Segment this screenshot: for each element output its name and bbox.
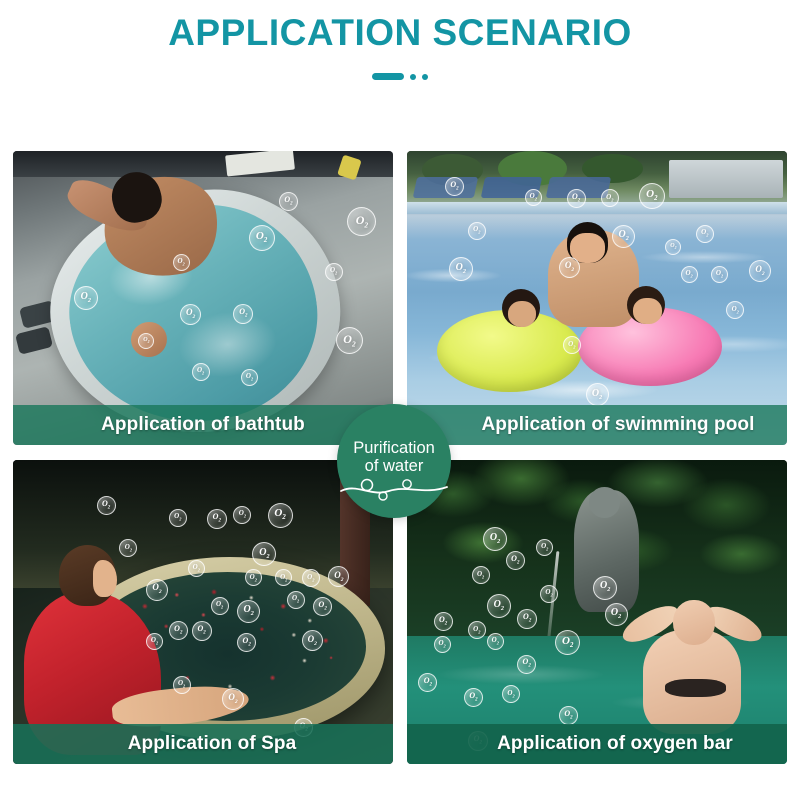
oxygen-bubble-label: O2 — [611, 608, 621, 620]
oxygen-bubble-label: O2 — [606, 194, 613, 203]
oxygen-bubble-label: O2 — [343, 333, 355, 348]
scenario-panel-bathtub[interactable]: O2O2O2O2O2O2O2O2O2O2O2O2 Application of … — [13, 151, 393, 445]
purification-badge-line1: Purification — [353, 439, 435, 457]
oxygen-bubble-label: O2 — [102, 500, 110, 512]
oxygen-bubble-icon: O2 — [146, 579, 168, 601]
scenario-panel-swimming-pool[interactable]: O2O2O2O2O2O2O2O2O2O2O2O2O2O2O2O2O2 Appli… — [407, 151, 787, 445]
oxygen-bubble-icon: O2 — [601, 189, 619, 207]
oxygen-bubble-label: O2 — [193, 564, 200, 573]
oxygen-bubble-label: O2 — [319, 601, 327, 613]
oxygen-bubble-icon: O2 — [449, 257, 473, 281]
oxygen-bubble-icon: O2 — [468, 621, 486, 639]
oxygen-bubble-icon: O2 — [169, 509, 187, 527]
purification-badge: Purification of water — [337, 404, 451, 518]
oxygen-bubble-label: O2 — [239, 308, 247, 320]
oxygen-bubble-label: O2 — [600, 581, 610, 593]
oxygen-bubble-label: O2 — [243, 637, 251, 649]
oxygen-bubble-label: O2 — [494, 600, 504, 612]
oxygen-bubble-label: O2 — [565, 261, 574, 273]
oxygen-bubble-icon: O2 — [559, 706, 578, 725]
panel-caption-swimming-pool: Application of swimming pool — [407, 405, 787, 445]
panel-caption-oxygen-bar: Application of oxygen bar — [407, 724, 787, 764]
oxygen-bubble-icon: O2 — [605, 603, 628, 626]
oxygen-bubble-icon: O2 — [188, 560, 205, 577]
oxygen-bubble-icon: O2 — [207, 509, 227, 529]
page-title: APPLICATION SCENARIO — [0, 14, 800, 53]
oxygen-bubble-icon: O2 — [325, 263, 343, 281]
panel-caption-spa: Application of Spa — [13, 724, 393, 764]
oxygen-bubble-label: O2 — [228, 693, 237, 705]
oxygen-bubble-label: O2 — [174, 625, 182, 637]
oxygen-bubble-icon: O2 — [222, 688, 244, 710]
oxygen-bubble-label: O2 — [469, 692, 477, 704]
oxygen-bubble-label: O2 — [450, 181, 458, 193]
oxygen-bubble-label: O2 — [250, 574, 257, 583]
water-wave-icon — [337, 471, 451, 501]
oxygen-bubble-icon: O2 — [681, 266, 698, 283]
oxygen-bubble-icon: O2 — [279, 192, 298, 211]
oxygen-bubble-label: O2 — [670, 243, 676, 251]
oxygen-bubble-icon: O2 — [506, 551, 525, 570]
oxygen-bubble-label: O2 — [143, 337, 149, 345]
oxygen-bubble-icon: O2 — [711, 266, 728, 283]
oxygen-bubble-icon: O2 — [146, 633, 163, 650]
oxygen-bubble-label: O2 — [284, 196, 292, 208]
oxygen-bubble-label: O2 — [334, 571, 343, 583]
oxygen-bubble-label: O2 — [523, 658, 531, 670]
oxygen-bubble-label: O2 — [125, 544, 132, 553]
oxygen-bubble-icon: O2 — [237, 633, 256, 652]
oxygen-bubble-label: O2 — [256, 231, 267, 245]
oxygen-bubble-label: O2 — [356, 214, 368, 229]
oxygen-bubbles-swimming-pool: O2O2O2O2O2O2O2O2O2O2O2O2O2O2O2O2O2 — [407, 151, 787, 445]
oxygen-bubble-label: O2 — [274, 508, 285, 522]
oxygen-bubble-label: O2 — [562, 636, 573, 650]
oxygen-bubble-label: O2 — [424, 677, 432, 689]
oxygen-bubble-label: O2 — [178, 680, 185, 689]
purification-badge-text: Purification of water — [345, 439, 443, 476]
oxygen-bubble-icon: O2 — [749, 260, 771, 282]
oxygen-bubble-icon: O2 — [418, 673, 437, 692]
oxygen-bubble-label: O2 — [473, 226, 480, 235]
oxygen-bubble-icon: O2 — [612, 225, 635, 248]
oxygen-bubble-label: O2 — [492, 637, 499, 646]
oxygen-bubble-label: O2 — [511, 555, 519, 567]
oxygen-bubble-label: O2 — [151, 637, 158, 646]
oxygen-bubble-label: O2 — [308, 635, 317, 647]
oxygen-bubble-icon: O2 — [502, 685, 520, 703]
oxygen-bubble-icon: O2 — [328, 566, 349, 587]
oxygen-bubbles-bathtub: O2O2O2O2O2O2O2O2O2O2O2O2 — [13, 151, 393, 445]
scenario-panel-spa[interactable]: O2O2O2O2O2O2O2O2O2O2O2O2O2O2O2O2O2O2O2O2… — [13, 460, 393, 764]
oxygen-bubble-icon: O2 — [639, 183, 665, 209]
oxygen-bubble-label: O2 — [152, 583, 161, 595]
oxygen-bubble-label: O2 — [439, 616, 447, 628]
oxygen-bubble-label: O2 — [81, 292, 91, 304]
oxygen-bubble-label: O2 — [244, 605, 254, 617]
oxygen-bubble-label: O2 — [292, 595, 299, 604]
oxygen-bubble-icon: O2 — [517, 609, 537, 629]
oxygen-bubble-icon: O2 — [302, 569, 320, 587]
oxygen-bubble-icon: O2 — [173, 254, 190, 271]
oxygen-bubble-label: O2 — [592, 389, 602, 401]
oxygen-bubble-icon: O2 — [445, 177, 464, 196]
oxygen-bubble-icon: O2 — [302, 630, 323, 651]
oxygen-bubble-label: O2 — [477, 571, 484, 580]
oxygen-bubble-icon: O2 — [555, 630, 580, 655]
oxygen-bubble-label: O2 — [177, 258, 184, 267]
oxygen-bubble-label: O2 — [186, 308, 195, 320]
oxygen-bubble-label: O2 — [732, 306, 739, 315]
oxygen-bubble-label: O2 — [174, 513, 181, 522]
oxygen-bubble-icon: O2 — [252, 542, 276, 566]
oxygen-bubble-label: O2 — [239, 510, 246, 519]
oxygen-bubble-icon: O2 — [275, 569, 292, 586]
oxygen-bubble-label: O2 — [572, 193, 580, 205]
oxygen-bubble-icon: O2 — [487, 594, 511, 618]
oxygen-bubble-icon: O2 — [233, 304, 253, 324]
oxygen-bubble-label: O2 — [541, 543, 548, 552]
page-header: APPLICATION SCENARIO — [0, 0, 800, 82]
oxygen-bubble-icon: O2 — [211, 597, 229, 615]
oxygen-bubble-label: O2 — [530, 193, 537, 202]
divider-dot-icon — [422, 74, 428, 80]
oxygen-bubble-label: O2 — [438, 640, 445, 649]
oxygen-bubble-icon: O2 — [525, 189, 542, 206]
oxygen-bubble-label: O2 — [716, 270, 723, 279]
oxygen-bubble-label: O2 — [619, 230, 629, 242]
oxygen-bubble-label: O2 — [456, 263, 466, 275]
oxygen-bubble-icon: O2 — [593, 576, 617, 600]
oxygen-bubble-label: O2 — [473, 626, 480, 635]
oxygen-bubble-label: O2 — [564, 710, 572, 722]
oxygen-bubble-icon: O2 — [464, 688, 483, 707]
oxygen-bubble-icon: O2 — [665, 239, 681, 255]
oxygen-bubble-label: O2 — [646, 189, 657, 203]
oxygen-bubble-label: O2 — [197, 625, 205, 637]
oxygen-bubble-label: O2 — [755, 265, 764, 277]
oxygen-bubble-icon: O2 — [487, 633, 504, 650]
oxygen-bubble-icon: O2 — [468, 222, 486, 240]
oxygen-bubble-icon: O2 — [192, 621, 212, 641]
scenario-panel-oxygen-bar[interactable]: O2O2O2O2O2O2O2O2O2O2O2O2O2O2O2O2O2O2O2O2… — [407, 460, 787, 764]
oxygen-bubble-icon: O2 — [434, 612, 453, 631]
oxygen-bubble-label: O2 — [216, 601, 223, 610]
oxygen-bubble-icon: O2 — [287, 591, 305, 609]
oxygen-bubble-label: O2 — [701, 229, 708, 238]
oxygen-bubble-icon: O2 — [472, 566, 490, 584]
oxygen-bubble-icon: O2 — [696, 225, 714, 243]
oxygen-bubble-icon: O2 — [563, 336, 581, 354]
oxygen-bubbles-spa: O2O2O2O2O2O2O2O2O2O2O2O2O2O2O2O2O2O2O2O2… — [13, 460, 393, 764]
oxygen-bubble-icon: O2 — [434, 636, 451, 653]
oxygen-bubble-icon: O2 — [313, 597, 332, 616]
oxygen-bubble-icon: O2 — [74, 286, 98, 310]
oxygen-bubble-icon: O2 — [249, 225, 275, 251]
oxygen-bubble-icon: O2 — [540, 585, 558, 603]
oxygen-bubble-icon: O2 — [173, 676, 191, 694]
oxygen-bubble-icon: O2 — [237, 600, 260, 623]
oxygen-bubble-icon: O2 — [97, 496, 116, 515]
oxygen-bubble-label: O2 — [246, 373, 253, 382]
oxygen-bubble-icon: O2 — [138, 333, 154, 349]
oxygen-bubble-label: O2 — [259, 548, 269, 560]
oxygen-bubble-label: O2 — [523, 613, 531, 625]
oxygen-bubble-icon: O2 — [536, 539, 553, 556]
oxygen-bubble-icon: O2 — [245, 569, 262, 586]
oxygen-bubble-icon: O2 — [180, 304, 201, 325]
oxygen-bubble-icon: O2 — [192, 363, 210, 381]
panel-caption-bathtub: Application of bathtub — [13, 405, 393, 445]
oxygen-bubble-label: O2 — [568, 341, 575, 350]
oxygen-bubble-icon: O2 — [483, 527, 507, 551]
oxygen-bubble-label: O2 — [545, 589, 552, 598]
oxygen-bubble-icon: O2 — [586, 383, 609, 406]
oxygen-bubble-icon: O2 — [567, 189, 586, 208]
oxygen-bubble-label: O2 — [213, 513, 221, 525]
oxygen-bubble-icon: O2 — [559, 257, 580, 278]
oxygen-bubble-icon: O2 — [726, 301, 744, 319]
oxygen-bubble-label: O2 — [490, 533, 500, 545]
oxygen-bubble-label: O2 — [197, 367, 204, 376]
divider-bar-icon — [372, 73, 404, 80]
oxygen-bubble-label: O2 — [280, 574, 287, 583]
oxygen-bubble-icon: O2 — [336, 327, 363, 354]
oxygen-bubble-label: O2 — [507, 690, 514, 699]
oxygen-bubble-label: O2 — [330, 267, 337, 276]
oxygen-bubble-icon: O2 — [268, 503, 293, 528]
oxygen-bubble-label: O2 — [307, 574, 314, 583]
oxygen-bubble-icon: O2 — [233, 506, 251, 524]
title-divider — [0, 72, 800, 82]
divider-dot-icon — [410, 74, 416, 80]
oxygen-bubble-icon: O2 — [119, 539, 137, 557]
oxygen-bubble-icon: O2 — [517, 655, 536, 674]
oxygen-bubbles-oxygen-bar: O2O2O2O2O2O2O2O2O2O2O2O2O2O2O2O2O2O2O2O2 — [407, 460, 787, 764]
oxygen-bubble-icon: O2 — [241, 369, 258, 386]
oxygen-bubble-icon: O2 — [169, 621, 188, 640]
oxygen-bubble-label: O2 — [685, 270, 692, 279]
oxygen-bubble-icon: O2 — [347, 207, 376, 236]
